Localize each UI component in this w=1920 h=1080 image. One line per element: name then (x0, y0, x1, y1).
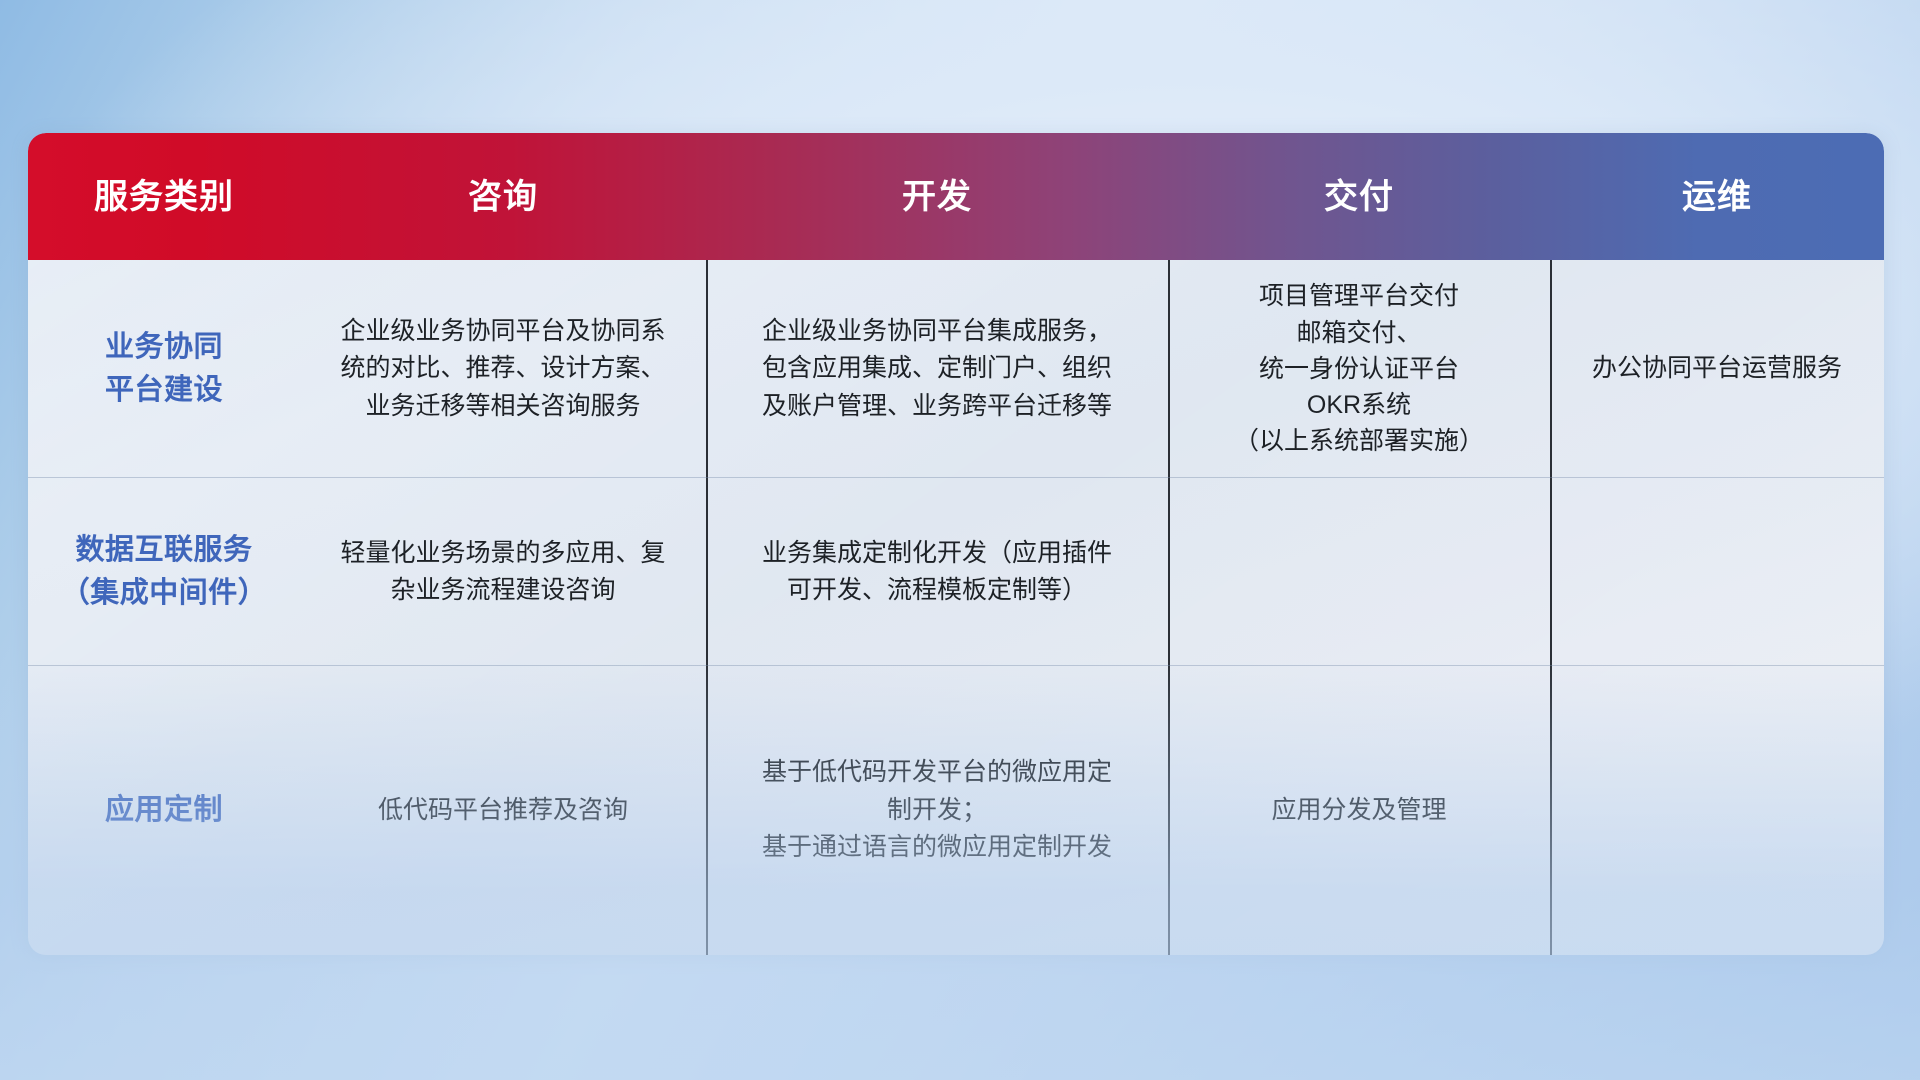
cell-text: 企业级业务协同平台及协同系统的对比、推荐、设计方案、业务迁移等相关咨询服务 (340, 313, 665, 426)
row-category-label: 业务协同平台建设 (105, 326, 223, 413)
cell-text: 办公协同平台运营服务 (1592, 350, 1842, 388)
column-header-operations: 运维 (1550, 180, 1884, 214)
cell-operations: 办公协同平台运营服务 (1550, 260, 1884, 478)
cell-consulting: 企业级业务协同平台及协同系统的对比、推荐、设计方案、业务迁移等相关咨询服务 (300, 260, 706, 478)
row-category-cell: 应用定制 (28, 666, 300, 955)
cell-development: 企业级业务协同平台集成服务，包含应用集成、定制门户、组织及账户管理、业务跨平台迁… (706, 260, 1168, 478)
table-body: 业务协同平台建设 企业级业务协同平台及协同系统的对比、推荐、设计方案、业务迁移等… (28, 260, 1884, 955)
cell-text: 项目管理平台交付邮箱交付、统一身份认证平台OKR系统（以上系统部署实施） (1234, 278, 1484, 459)
service-matrix-table: 服务类别 咨询 开发 交付 运维 业务协同平台建设 企业级业务协同平台及协同系统… (28, 133, 1884, 955)
cell-text: 企业级业务协同平台集成服务，包含应用集成、定制门户、组织及账户管理、业务跨平台迁… (762, 313, 1112, 426)
cell-development: 基于低代码开发平台的微应用定制开发；基于通过语言的微应用定制开发 (706, 666, 1168, 955)
cell-development: 业务集成定制化开发（应用插件可开发、流程模板定制等） (706, 478, 1168, 666)
row-category-cell: 数据互联服务（集成中间件） (28, 478, 300, 666)
table-header-row: 服务类别 咨询 开发 交付 运维 (28, 133, 1884, 260)
column-header-consulting: 咨询 (300, 180, 706, 214)
column-header-delivery: 交付 (1168, 180, 1550, 214)
cell-delivery: 应用分发及管理 (1168, 666, 1550, 955)
row-category-label: 数据互联服务（集成中间件） (61, 529, 268, 616)
cell-operations (1550, 478, 1884, 666)
cell-consulting: 轻量化业务场景的多应用、复杂业务流程建设咨询 (300, 478, 706, 666)
cell-operations (1550, 666, 1884, 955)
column-header-service-category: 服务类别 (28, 180, 300, 214)
cell-delivery: 项目管理平台交付邮箱交付、统一身份认证平台OKR系统（以上系统部署实施） (1168, 260, 1550, 478)
cell-text: 轻量化业务场景的多应用、复杂业务流程建设咨询 (340, 535, 665, 610)
column-header-development: 开发 (706, 180, 1168, 214)
row-category-cell: 业务协同平台建设 (28, 260, 300, 478)
slide-root: { "table": { "headers": [ { "label": "服务… (0, 0, 1920, 1080)
cell-text: 应用分发及管理 (1271, 792, 1446, 830)
table-row: 数据互联服务（集成中间件） 轻量化业务场景的多应用、复杂业务流程建设咨询 业务集… (28, 478, 1884, 666)
row-category-label: 应用定制 (105, 789, 223, 833)
cell-text: 基于低代码开发平台的微应用定制开发；基于通过语言的微应用定制开发 (762, 754, 1112, 867)
cell-text: 低代码平台推荐及咨询 (378, 792, 628, 830)
table-row: 业务协同平台建设 企业级业务协同平台及协同系统的对比、推荐、设计方案、业务迁移等… (28, 260, 1884, 478)
table-row: 应用定制 低代码平台推荐及咨询 基于低代码开发平台的微应用定制开发；基于通过语言… (28, 666, 1884, 955)
cell-text: 业务集成定制化开发（应用插件可开发、流程模板定制等） (762, 535, 1112, 610)
cell-consulting: 低代码平台推荐及咨询 (300, 666, 706, 955)
cell-delivery (1168, 478, 1550, 666)
